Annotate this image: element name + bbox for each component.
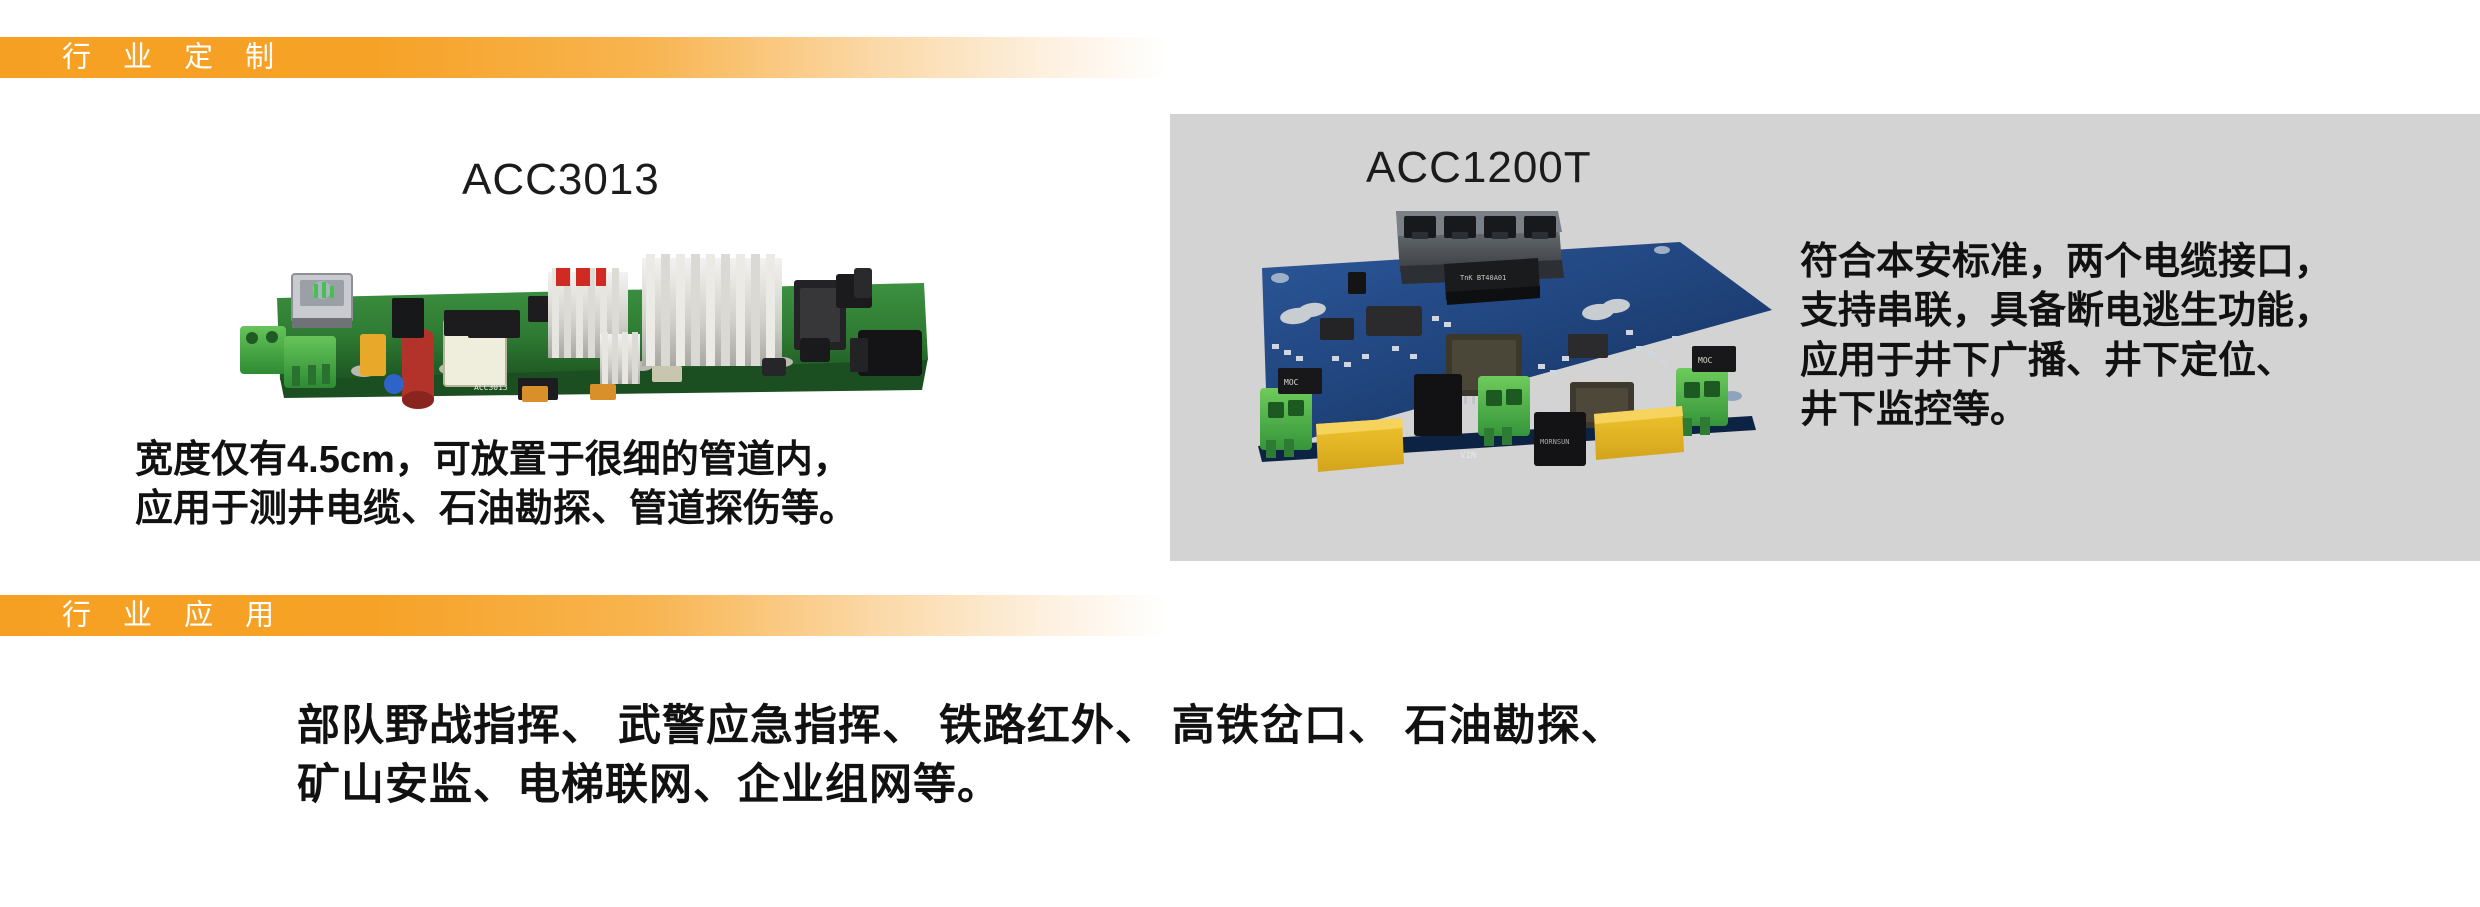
section-title-industry-application: 行 业 应 用 (62, 601, 286, 630)
svg-text:VIN: VIN (1460, 451, 1476, 461)
section-banner-industry-application: 行 业 应 用 (0, 595, 1241, 636)
application-scenarios-text: 部队野战指挥、 武警应急指挥、 铁路红外、 高铁岔口、 石油勘探、 矿山安监、电… (297, 697, 2247, 816)
acc3013-board-illustration: ACC3013 (222, 238, 942, 428)
section-title-industry-customization: 行 业 定 制 (62, 43, 286, 72)
product-description-acc3013: 宽度仅有4.5cm，可放置于很细的管道内， 应用于测井电缆、石油勘探、管道探伤等… (135, 436, 1085, 535)
product-image-acc3013: ACC3013 (222, 238, 942, 428)
product-image-acc1200t: TnK BT40A01 (1232, 206, 1792, 506)
svg-text:MORNSUN: MORNSUN (1540, 438, 1570, 446)
section-banner-industry-customization: 行 业 定 制 (0, 37, 1241, 78)
svg-text:MOC: MOC (1284, 378, 1299, 387)
product-title-acc3013: ACC3013 (462, 155, 660, 205)
svg-text:ACC3013: ACC3013 (474, 383, 508, 392)
slide-root: 行 业 定 制 行 业 应 用 ACC3013 (0, 0, 2480, 907)
acc1200t-board-illustration: TnK BT40A01 (1232, 206, 1792, 506)
svg-text:MOC: MOC (1698, 356, 1713, 365)
product-title-acc1200t: ACC1200T (1366, 143, 1592, 193)
product-description-acc1200t: 符合本安标准，两个电缆接口， 支持串联，具备断电逃生功能， 应用于井下广播、井下… (1800, 238, 2460, 436)
svg-text:TnK BT40A01: TnK BT40A01 (1460, 274, 1506, 282)
